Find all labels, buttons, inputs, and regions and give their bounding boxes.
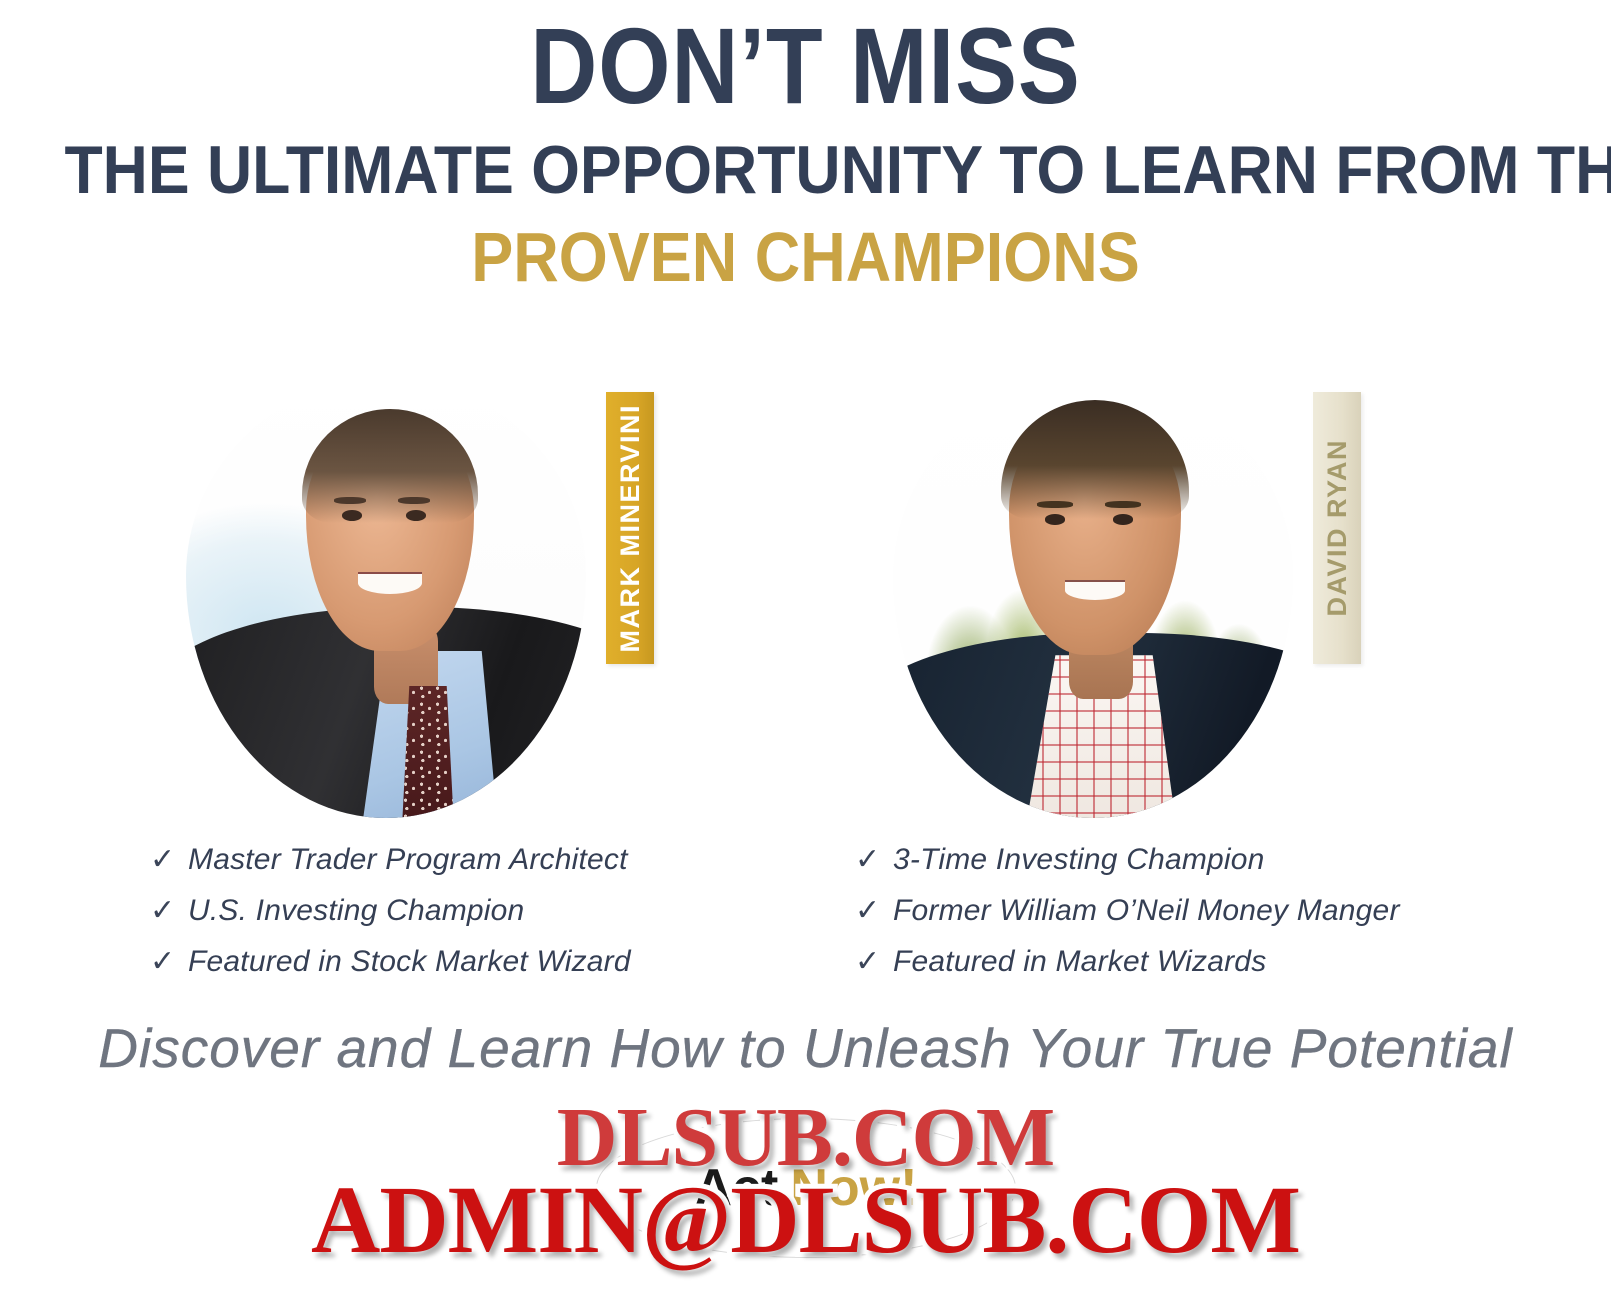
speaker-name-banner-mark-minervini: MARK MINERVINI	[606, 392, 654, 664]
portrait-illustration	[893, 378, 1293, 818]
list-item: ✓ Featured in Market Wizards	[855, 945, 1555, 985]
portrait-smile	[358, 572, 422, 594]
speaker-card-mark-minervini: MARK MINERVINI	[148, 378, 648, 828]
list-item-label: 3-Time Investing Champion	[893, 843, 1265, 877]
portrait-illustration	[186, 378, 586, 818]
check-icon: ✓	[150, 845, 188, 875]
portrait-tie	[402, 686, 454, 818]
check-icon: ✓	[855, 845, 893, 875]
promo-poster: DON’T MISS THE ULTIMATE OPPORTUNITY TO L…	[0, 0, 1611, 1291]
speaker-card-david-ryan: DAVID RYAN	[855, 378, 1355, 828]
check-icon: ✓	[150, 896, 188, 926]
speaker-credentials-mark-minervini: ✓ Master Trader Program Architect ✓ U.S.…	[150, 843, 850, 996]
speaker-portrait-mark-minervini	[186, 378, 586, 818]
speakers-row: MARK MINERVINI	[0, 378, 1611, 848]
list-item-label: U.S. Investing Champion	[188, 894, 524, 928]
speaker-portrait-david-ryan	[893, 378, 1293, 818]
portrait-eye-right	[1113, 514, 1133, 524]
list-item: ✓ Featured in Stock Market Wizard	[150, 945, 850, 985]
list-item-label: Master Trader Program Architect	[188, 843, 628, 877]
speaker-name-label: DAVID RYAN	[1322, 439, 1353, 617]
watermark-email: ADMIN@DLSUB.COM	[0, 1164, 1611, 1275]
portrait-eyebrow-left	[1037, 501, 1073, 508]
speaker-photo-wrap: MARK MINERVINI	[186, 378, 586, 818]
portrait-eyebrow-left	[334, 497, 366, 504]
list-item-label: Featured in Market Wizards	[893, 945, 1266, 979]
speaker-name-label: MARK MINERVINI	[615, 404, 646, 653]
check-icon: ✓	[855, 947, 893, 977]
speaker-photo-wrap: DAVID RYAN	[893, 378, 1293, 818]
portrait-eye-left	[1045, 514, 1065, 524]
tagline: Discover and Learn How to Unleash Your T…	[0, 1016, 1611, 1080]
list-item: ✓ 3-Time Investing Champion	[855, 843, 1555, 883]
portrait-eyebrow-right	[1105, 501, 1141, 508]
portrait-eyebrow-right	[398, 497, 430, 504]
list-item-label: Former William O’Neil Money Manger	[893, 894, 1400, 928]
list-item: ✓ Former William O’Neil Money Manger	[855, 894, 1555, 934]
check-icon: ✓	[855, 896, 893, 926]
portrait-eye-left	[342, 510, 362, 521]
headline-line-2: THE ULTIMATE OPPORTUNITY TO LEARN FROM T…	[64, 136, 1546, 204]
portrait-smile	[1065, 580, 1125, 599]
speaker-name-banner-david-ryan: DAVID RYAN	[1313, 392, 1361, 664]
list-item: ✓ Master Trader Program Architect	[150, 843, 850, 883]
check-icon: ✓	[150, 947, 188, 977]
speaker-credentials-david-ryan: ✓ 3-Time Investing Champion ✓ Former Wil…	[855, 843, 1555, 996]
list-item-label: Featured in Stock Market Wizard	[188, 945, 631, 979]
list-item: ✓ U.S. Investing Champion	[150, 894, 850, 934]
headline-block: DON’T MISS THE ULTIMATE OPPORTUNITY TO L…	[0, 0, 1611, 292]
portrait-eye-right	[406, 510, 426, 521]
headline-line-3: PROVEN CHAMPIONS	[81, 222, 1531, 292]
headline-line-1: DON’T MISS	[113, 0, 1498, 120]
